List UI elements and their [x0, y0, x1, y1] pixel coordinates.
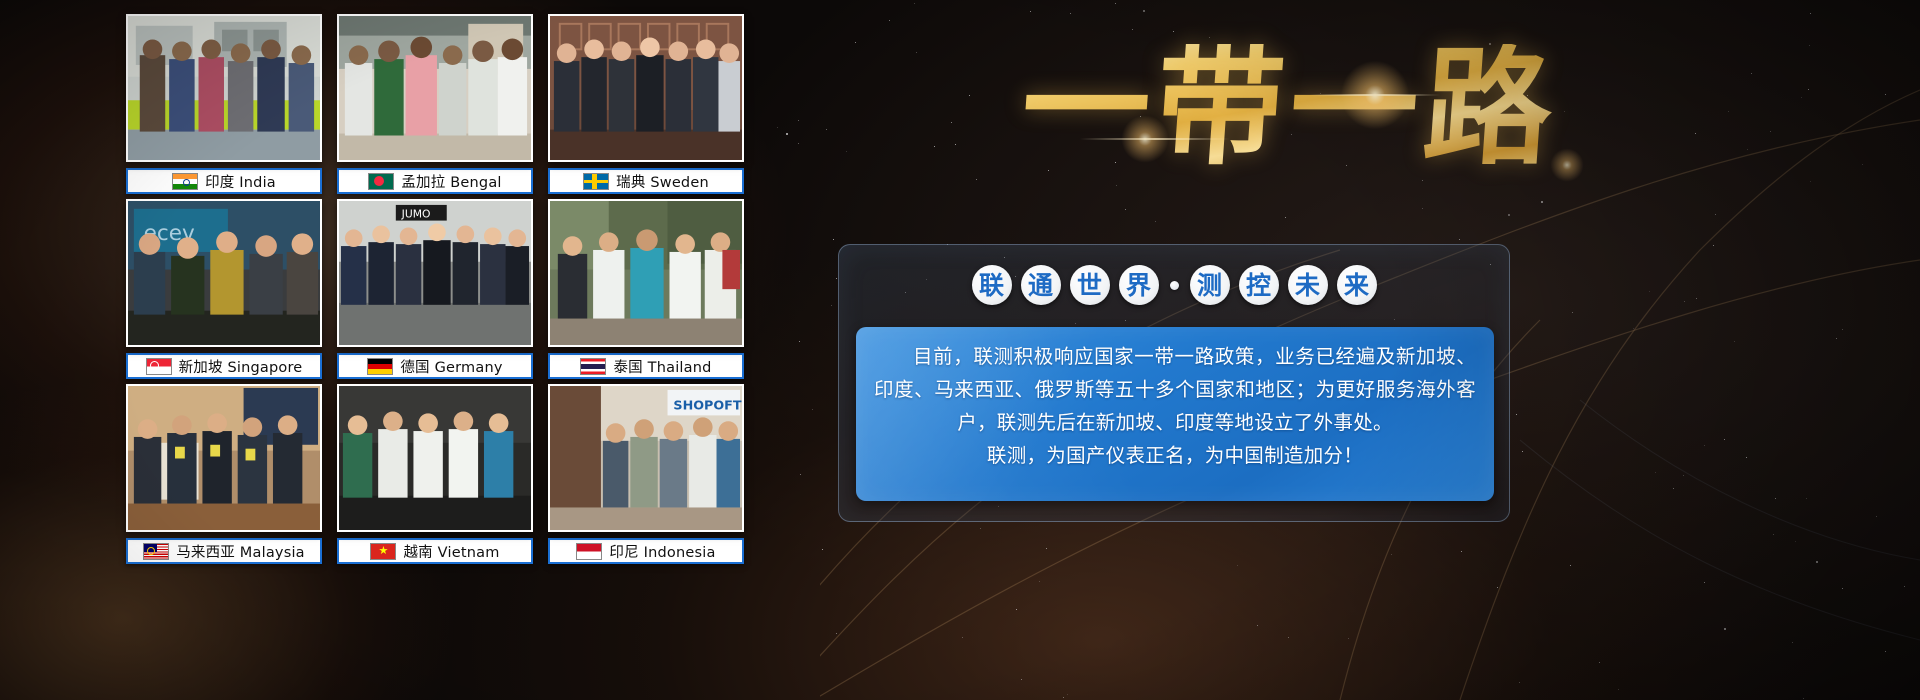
slogan-char-5: 测 [1190, 265, 1230, 305]
photo-singapore[interactable]: ecev [126, 199, 322, 347]
caption-label: 德国 Germany [400, 356, 502, 377]
caption-label: 瑞典 Sweden [616, 171, 709, 192]
photo-vietnam[interactable] [337, 384, 533, 532]
svg-text:JUMO: JUMO [401, 208, 431, 221]
caption-label: 印尼 Indonesia [609, 541, 715, 562]
country-photo-grid: 印度 India [126, 14, 756, 586]
slogan-char-2: 通 [1021, 265, 1061, 305]
gallery-item[interactable]: SHOPOFT 印尼 Indonesia [548, 384, 744, 562]
calligraphy-text: 一带一路 [1018, 44, 1563, 172]
photo-thailand[interactable] [548, 199, 744, 347]
photo-india[interactable] [126, 14, 322, 162]
description-paragraph-2: 联测，为国产仪表正名，为中国制造加分！ [874, 439, 1476, 472]
description-textbox: 目前，联测积极响应国家一带一路政策，业务已经遍及新加坡、印度、马来西亚、俄罗斯等… [856, 327, 1494, 501]
slogan-char-4: 界 [1119, 265, 1159, 305]
slogan-char-3: 世 [1070, 265, 1110, 305]
gallery-item[interactable]: 瑞典 Sweden [548, 14, 744, 192]
promo-banner: 印度 India [0, 0, 1920, 700]
photo-malaysia[interactable] [126, 384, 322, 532]
gallery-item[interactable]: 越南 Vietnam [337, 384, 533, 562]
slogan-char-6: 控 [1239, 265, 1279, 305]
gallery-item[interactable]: 印度 India [126, 14, 322, 192]
singapore-flag [146, 358, 172, 375]
gallery-item[interactable]: 马来西亚 Malaysia [126, 384, 322, 562]
info-panel: 联 通 世 界 测 控 未 来 目前，联测积极响应国家一带一路政策，业务已经遍及… [838, 244, 1510, 522]
calligraphy-title: 一带一路 [1010, 8, 1570, 208]
slogan-separator-dot-icon [1170, 281, 1179, 290]
caption-label: 孟加拉 Bengal [401, 171, 501, 192]
gallery-item[interactable]: 泰国 Thailand [548, 199, 744, 377]
caption-label: 泰国 Thailand [613, 356, 711, 377]
photo-indonesia[interactable]: SHOPOFT [548, 384, 744, 532]
photo-bengal[interactable] [337, 14, 533, 162]
slogan-char-8: 来 [1337, 265, 1377, 305]
gallery-item[interactable]: ecev 新加坡 Singapore [126, 199, 322, 377]
india-flag [172, 173, 198, 190]
caption-bengal: 孟加拉 Bengal [337, 168, 533, 194]
description-paragraph-1: 目前，联测积极响应国家一带一路政策，业务已经遍及新加坡、印度、马来西亚、俄罗斯等… [874, 340, 1476, 439]
caption-label: 印度 India [205, 171, 276, 192]
caption-india: 印度 India [126, 168, 322, 194]
caption-germany: 德国 Germany [337, 353, 533, 379]
slogan-row: 联 通 世 界 测 控 未 来 [839, 265, 1509, 305]
caption-label: 越南 Vietnam [403, 541, 499, 562]
indonesia-flag [576, 543, 602, 560]
caption-singapore: 新加坡 Singapore [126, 353, 322, 379]
gallery-item[interactable]: 孟加拉 Bengal [337, 14, 533, 192]
photo-sweden[interactable] [548, 14, 744, 162]
caption-label: 马来西亚 Malaysia [176, 541, 305, 562]
caption-vietnam: 越南 Vietnam [337, 538, 533, 564]
caption-thailand: 泰国 Thailand [548, 353, 744, 379]
bangladesh-flag [368, 173, 394, 190]
caption-label: 新加坡 Singapore [179, 356, 303, 377]
caption-malaysia: 马来西亚 Malaysia [126, 538, 322, 564]
slogan-char-7: 未 [1288, 265, 1328, 305]
caption-indonesia: 印尼 Indonesia [548, 538, 744, 564]
malaysia-flag [143, 543, 169, 560]
caption-sweden: 瑞典 Sweden [548, 168, 744, 194]
germany-flag [367, 358, 393, 375]
sweden-flag [583, 173, 609, 190]
slogan-char-1: 联 [972, 265, 1012, 305]
vietnam-flag [370, 543, 396, 560]
gallery-item[interactable]: JUMO 德国 Germany [337, 199, 533, 377]
svg-text:SHOPOFT: SHOPOFT [673, 399, 741, 414]
photo-germany[interactable]: JUMO [337, 199, 533, 347]
thailand-flag [580, 358, 606, 375]
